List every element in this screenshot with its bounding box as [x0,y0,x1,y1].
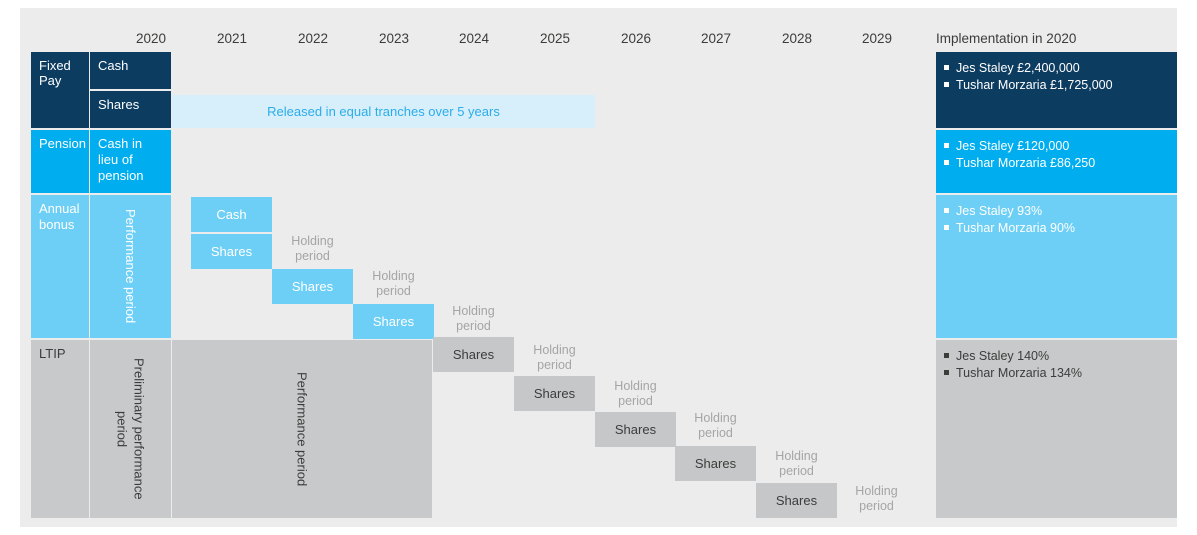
bullet-icon [944,370,949,375]
year-label-2022: 2022 [272,30,354,48]
year-label-2027: 2027 [675,30,757,48]
annual-bonus-shares-box-1: Shares [272,269,353,304]
implementation-text: Tushar Morzaria £1,725,000 [956,77,1113,94]
bullet-icon [944,225,949,230]
ltip-performance-period: Performance period [172,340,432,518]
year-label-2023: 2023 [353,30,435,48]
ltip-shares-box-1: Shares [514,376,595,411]
implementation-text: Tushar Morzaria 90% [956,220,1075,237]
ltip-shares-box-0: Shares [433,337,514,372]
row-label-ltip: LTIP [31,340,89,518]
implementation-line: Tushar Morzaria 134% [944,365,1177,382]
annual-bonus-shares-box-0: Shares [191,234,272,269]
year-label-2021: 2021 [191,30,273,48]
ltip-holding-period-0: Holding period [514,343,595,373]
annual-bonus-holding-period-2: Holding period [433,304,514,334]
fixed-pay-shares-box: Shares [90,91,171,128]
implementation-line: Tushar Morzaria £86,250 [944,155,1177,172]
implementation-line: Tushar Morzaria £1,725,000 [944,77,1177,94]
implementation-text: Jes Staley £120,000 [956,138,1069,155]
ltip-holding-period-4: Holding period [836,484,917,514]
year-label-2020: 2020 [110,30,192,48]
annual-bonus-performance-period-text: Performance period [122,209,139,323]
year-label-2029: 2029 [836,30,918,48]
ltip-shares-box-4: Shares [756,483,837,518]
pension-cash-in-lieu-box: Cash in lieu of pension [90,130,171,193]
implementation-column-title: Implementation in 2020 [936,30,1076,48]
implementation-text: Tushar Morzaria £86,250 [956,155,1095,172]
implementation-line: Jes Staley £120,000 [944,138,1177,155]
row-label-annual-bonus: Annual bonus [31,195,89,338]
implementation-box-fixed-pay: Jes Staley £2,400,000 Tushar Morzaria £1… [936,52,1177,128]
implementation-text: Tushar Morzaria 134% [956,365,1082,382]
implementation-box-annual-bonus: Jes Staley 93% Tushar Morzaria 90% [936,195,1177,338]
fixed-pay-release-note: Released in equal tranches over 5 years [172,95,595,128]
implementation-box-pension: Jes Staley £120,000 Tushar Morzaria £86,… [936,130,1177,193]
year-label-2026: 2026 [595,30,677,48]
row-label-pension: Pension [31,130,89,193]
ltip-holding-period-2: Holding period [675,411,756,441]
year-label-2024: 2024 [433,30,515,48]
annual-bonus-shares-box-2: Shares [353,304,434,339]
implementation-line: Jes Staley 93% [944,203,1177,220]
bullet-icon [944,353,949,358]
bullet-icon [944,82,949,87]
fixed-pay-cash-box: Cash [90,52,171,89]
ltip-preliminary-performance-period: Preliminary performance period [90,340,171,518]
implementation-line: Jes Staley £2,400,000 [944,60,1177,77]
bullet-icon [944,160,949,165]
annual-bonus-performance-period: Performance period [90,195,171,338]
implementation-text: Jes Staley 93% [956,203,1042,220]
ltip-shares-box-2: Shares [595,412,676,447]
year-label-2028: 2028 [756,30,838,48]
bullet-icon [944,143,949,148]
annual-bonus-holding-period-1: Holding period [353,269,434,299]
annual-bonus-holding-period-0: Holding period [272,234,353,264]
annual-bonus-cash-box: Cash [191,197,272,232]
implementation-text: Jes Staley 140% [956,348,1049,365]
implementation-text: Jes Staley £2,400,000 [956,60,1080,77]
ltip-shares-box-3: Shares [675,446,756,481]
implementation-line: Tushar Morzaria 90% [944,220,1177,237]
bullet-icon [944,208,949,213]
remuneration-timeline-panel: 2020 2021 2022 2023 2024 2025 2026 2027 … [20,8,1177,527]
ltip-holding-period-3: Holding period [756,449,837,479]
row-label-fixed-pay: Fixed Pay [31,52,89,128]
bullet-icon [944,65,949,70]
implementation-box-ltip: Jes Staley 140% Tushar Morzaria 134% [936,340,1177,518]
ltip-preliminary-performance-period-text: Preliminary performance period [114,340,148,518]
implementation-line: Jes Staley 140% [944,348,1177,365]
ltip-performance-period-text: Performance period [294,372,311,486]
ltip-holding-period-1: Holding period [595,379,676,409]
year-label-2025: 2025 [514,30,596,48]
